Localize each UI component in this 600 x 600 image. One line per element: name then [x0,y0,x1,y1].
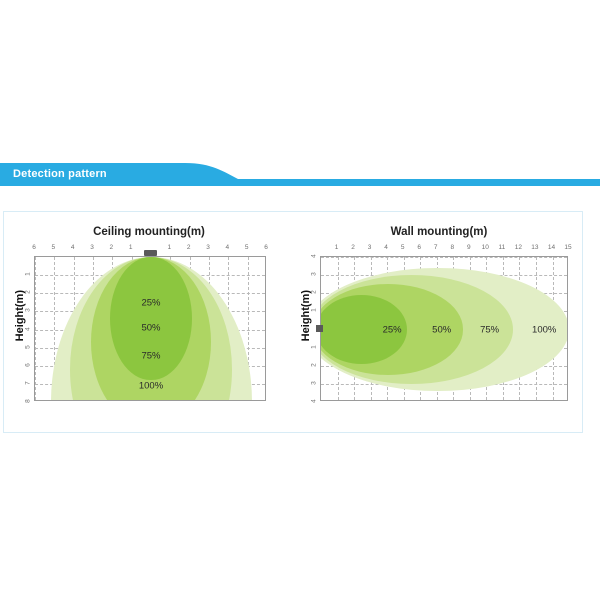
y-tick-label: 3 [310,381,317,385]
sensor-marker-icon [316,325,323,332]
x-tick-label: 12 [515,244,522,251]
y-tick-label: 7 [24,381,31,385]
y-tick-label: 1 [310,345,317,349]
x-tick-label: 1 [129,244,133,251]
wall-mounting-chart: Wall mounting(m) Height(m) 1234567891011… [294,212,584,432]
ceiling-chart-title: Ceiling mounting(m) [6,226,292,238]
coverage-label: 100% [532,324,556,335]
x-tick-label: 5 [401,244,405,251]
x-tick-label: 4 [384,244,388,251]
banner-title: Detection pattern [13,168,107,180]
y-tick-label: 2 [310,290,317,294]
sensor-marker-icon [144,250,157,256]
y-tick-label: 2 [24,290,31,294]
x-tick-label: 6 [417,244,421,251]
y-tick-label: 3 [310,272,317,276]
coverage-label: 50% [141,322,160,333]
y-tick-label: 4 [310,254,317,258]
wall-y-axis-label: Height(m) [300,290,312,341]
x-tick-label: 6 [32,244,36,251]
grid-line [321,257,567,258]
wall-plot-area: 25%50%75%100% [320,256,568,401]
x-tick-label: 9 [467,244,471,251]
y-tick-label: 4 [310,399,317,403]
x-tick-label: 13 [531,244,538,251]
ceiling-y-axis-label: Height(m) [14,290,26,341]
coverage-label: 25% [141,298,160,309]
x-tick-label: 15 [564,244,571,251]
detection-pattern-panel: Ceiling mounting(m) Height(m) 6543211234… [3,211,583,433]
x-tick-label: 3 [368,244,372,251]
y-tick-label: 1 [24,272,31,276]
coverage-label: 50% [432,324,451,335]
ceiling-plot-area: 25%50%75%100% [34,256,266,401]
x-tick-label: 3 [90,244,94,251]
x-tick-label: 2 [351,244,355,251]
x-tick-label: 11 [499,244,506,251]
y-tick-label: 4 [24,327,31,331]
x-tick-label: 2 [109,244,113,251]
wall-chart-title: Wall mounting(m) [294,226,584,238]
x-tick-label: 14 [548,244,555,251]
y-tick-label: 8 [24,399,31,403]
y-tick-label: 5 [24,345,31,349]
y-tick-label: 1 [310,309,317,313]
x-tick-label: 5 [51,244,55,251]
x-tick-label: 3 [206,244,210,251]
x-tick-label: 1 [335,244,339,251]
y-tick-label: 3 [24,309,31,313]
x-tick-label: 6 [264,244,268,251]
coverage-lobe-25pct [110,257,191,380]
coverage-label: 75% [480,324,499,335]
x-tick-label: 4 [225,244,229,251]
coverage-label: 75% [141,350,160,361]
y-tick-label: 2 [310,363,317,367]
x-tick-label: 10 [482,244,489,251]
x-tick-label: 8 [450,244,454,251]
x-tick-label: 1 [167,244,171,251]
x-tick-label: 5 [245,244,249,251]
y-tick-label: 6 [24,363,31,367]
ceiling-mounting-chart: Ceiling mounting(m) Height(m) 6543211234… [6,212,292,432]
x-tick-label: 2 [187,244,191,251]
coverage-label: 100% [139,380,163,391]
coverage-label: 25% [383,324,402,335]
x-tick-label: 7 [434,244,438,251]
grid-line [35,257,36,400]
x-tick-label: 4 [71,244,75,251]
